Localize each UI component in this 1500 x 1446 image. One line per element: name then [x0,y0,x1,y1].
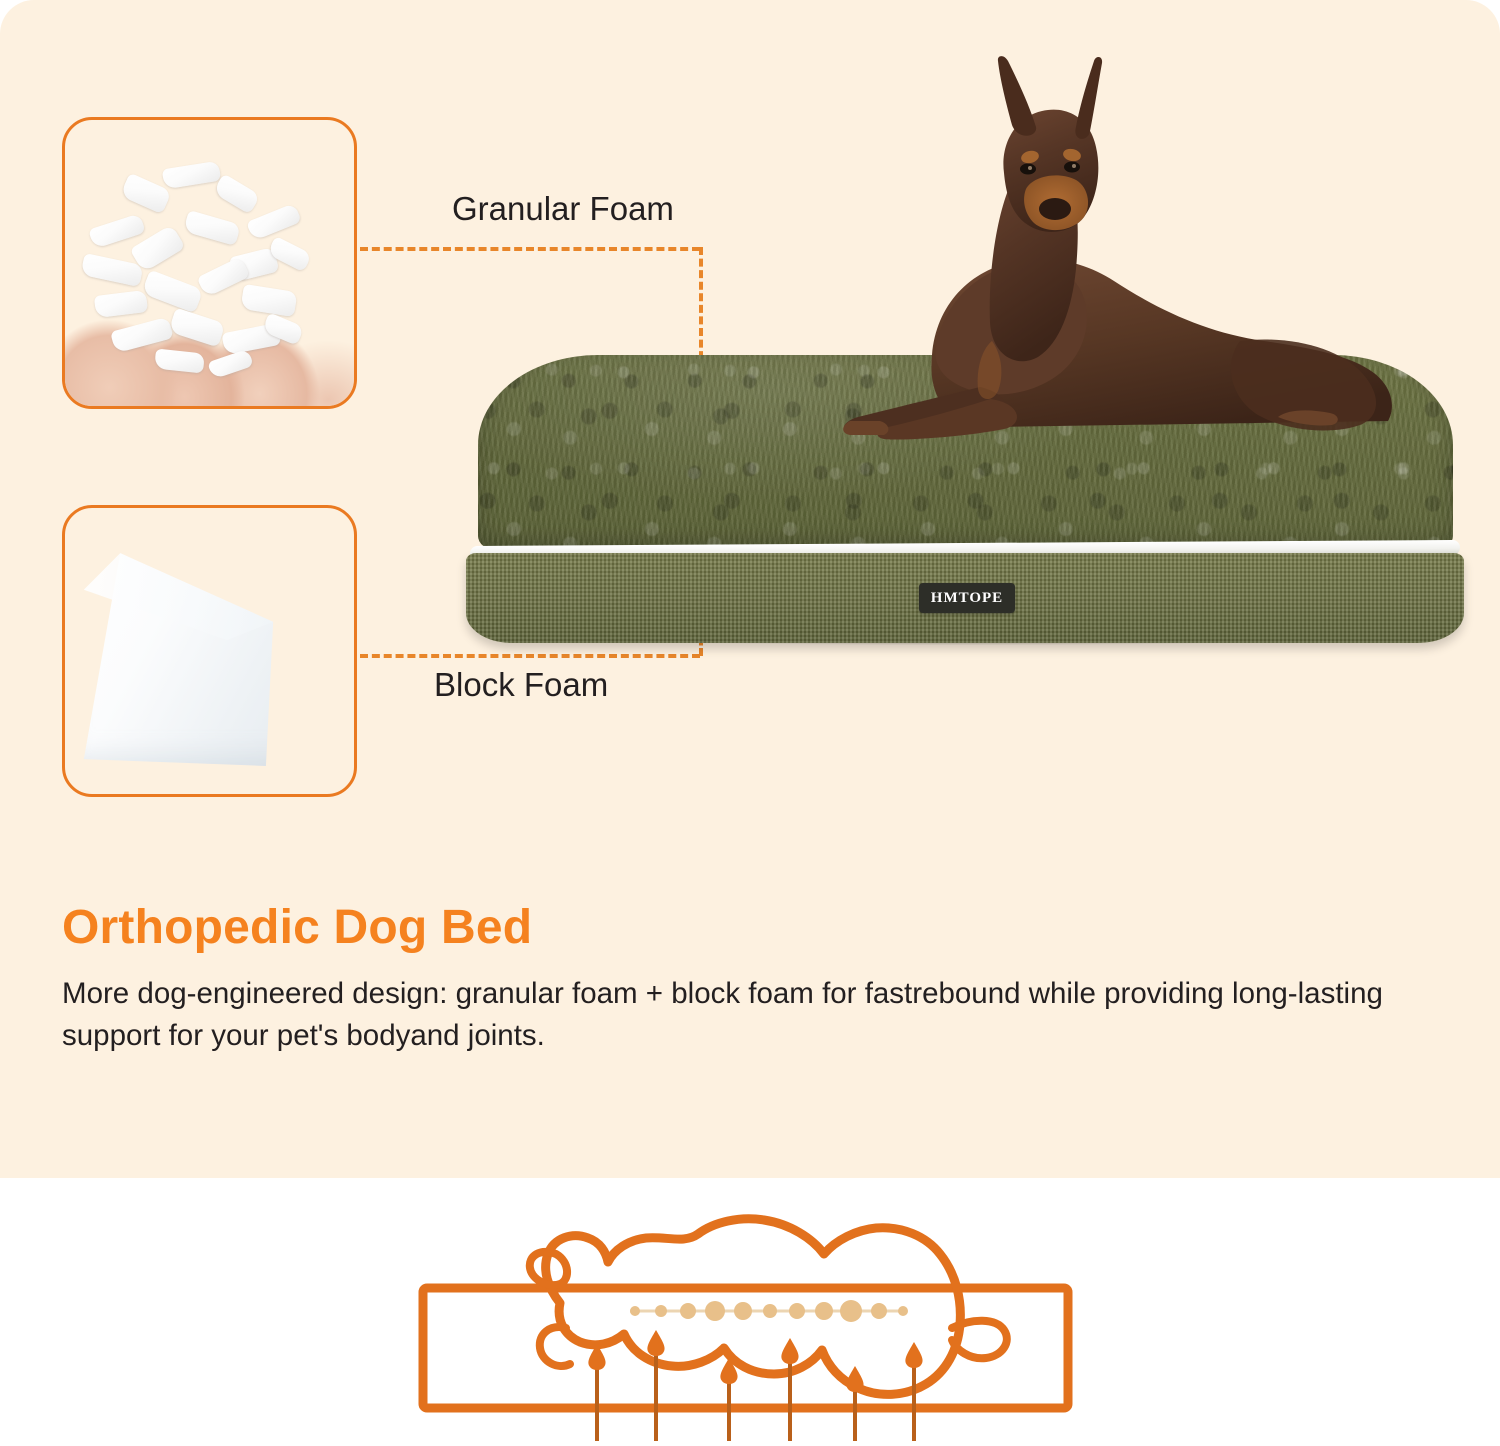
dog-nose [1039,198,1071,220]
granular-foam-image [65,120,354,406]
dog-eye-right-glint [1072,164,1076,168]
block-foam-swatch [62,505,357,797]
dog-ear-right [1075,57,1102,139]
dog-ear-left [998,56,1036,136]
dog-front-paw [843,421,888,435]
diagram-arrowheads [588,1330,922,1392]
block-foam-image [65,508,354,794]
body-copy: More dog-engineered design: granular foa… [62,973,1392,1057]
product-photo: HMTOPE [420,55,1480,655]
dog-eye-left-glint [1028,166,1032,170]
dog-eye-left [1020,164,1036,175]
page-title: Orthopedic Dog Bed [62,900,1402,955]
granular-foam-swatch [62,117,357,409]
callout-label-block-foam: Block Foam [434,666,608,704]
support-diagram-svg [0,1178,1500,1441]
brand-logo-patch: HMTOPE [919,583,1015,613]
brand-logo-text: HMTOPE [931,590,1003,607]
support-diagram [0,1178,1500,1441]
copy-block: Orthopedic Dog Bed More dog-engineered d… [62,900,1402,1057]
diagram-dog-outline [546,1219,961,1395]
dog-photo [840,55,1460,475]
foam-pile [74,154,346,377]
hero-section: Granular Foam Block Foam HMTOPE [0,0,1500,1178]
dog-eye-right [1064,162,1080,173]
